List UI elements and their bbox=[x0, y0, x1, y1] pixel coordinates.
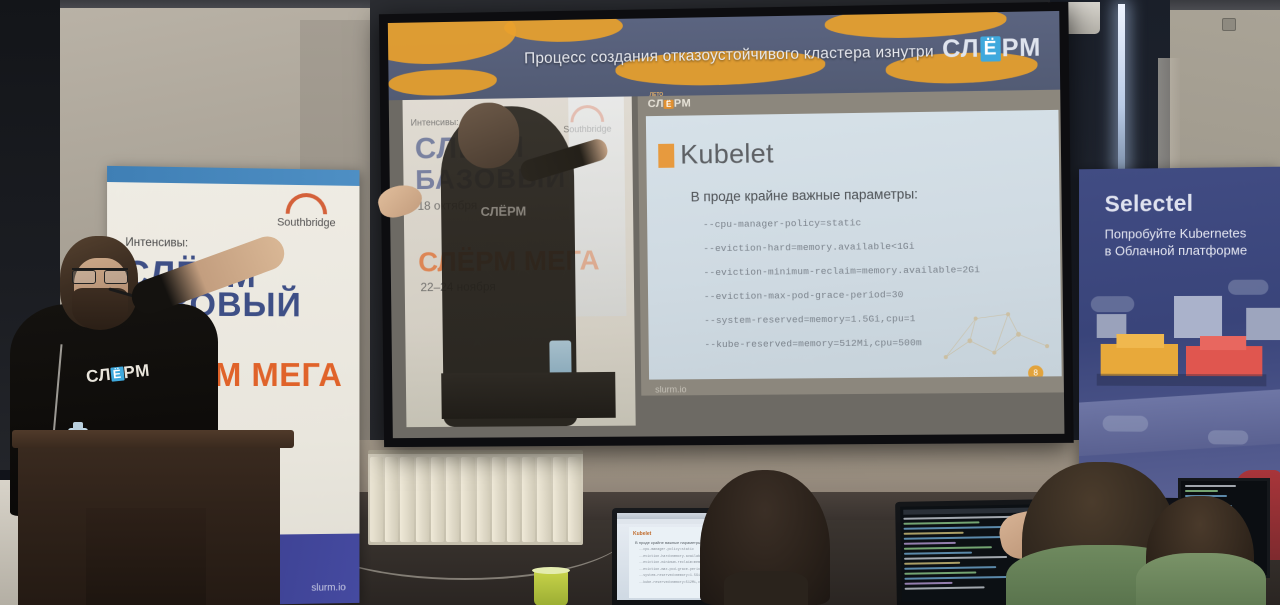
southbridge-arc-icon bbox=[286, 193, 327, 214]
hoodie-logo-before: СЛ bbox=[85, 365, 112, 388]
slide-code-line: --eviction-hard=memory.available<1Gi bbox=[703, 239, 1050, 254]
slide-code-line: --cpu-manager-policy=static bbox=[703, 215, 1050, 230]
slide-body: Kubelet В проде крайне важные параметры:… bbox=[646, 110, 1062, 380]
camera-feed-overlay: Southbridge Интенсивы: СЛЁРМ БАЗОВЫЙ 18 … bbox=[402, 96, 635, 427]
audience-person-right bbox=[1146, 496, 1254, 605]
pixel-block-gray bbox=[1246, 308, 1280, 340]
selectel-tagline-line2: в Облачной платформе bbox=[1105, 242, 1275, 260]
slide-brand-after: РМ bbox=[674, 97, 691, 109]
pixel-block-orange bbox=[1101, 344, 1178, 376]
podium-leg bbox=[86, 508, 206, 605]
slide-title-bullet-icon bbox=[658, 144, 674, 168]
pixel-block-red bbox=[1186, 346, 1262, 376]
projected-image: Процесс создания отказоустойчивого класт… bbox=[388, 11, 1065, 438]
pixel-block-orange bbox=[1116, 334, 1164, 348]
camera-feed-window bbox=[568, 97, 626, 317]
selectel-tagline-line1: Попробуйте Kubernetes bbox=[1105, 225, 1275, 243]
banner-left-topbar bbox=[107, 166, 359, 186]
banner-left-sponsor-label: Southbridge bbox=[277, 217, 336, 230]
projection-screen: Процесс создания отказоустойчивого класт… bbox=[379, 2, 1074, 447]
slerm-logo-before: СЛ bbox=[942, 35, 980, 65]
ceiling-vent bbox=[1222, 18, 1236, 31]
pixel-block-shadow bbox=[1097, 374, 1267, 387]
banner-selectel: Selectel Попробуйте Kubernetes в Облачно… bbox=[1079, 167, 1280, 500]
glasses-icon bbox=[72, 268, 128, 280]
slide-brand-logo-icon: ЛЕТО СЛЁРМ bbox=[648, 97, 692, 110]
network-decoration-icon bbox=[935, 296, 1058, 370]
selectel-tagline: Попробуйте Kubernetes в Облачной платфор… bbox=[1105, 225, 1275, 259]
pixel-block-gray bbox=[1174, 296, 1222, 338]
hoodie-logo-after: РМ bbox=[123, 361, 151, 384]
slerm-logo-boxed: Ё bbox=[980, 36, 1000, 62]
camera-feed-speaker-head bbox=[458, 102, 520, 168]
slide-brand-boxed: Ё bbox=[664, 99, 674, 108]
camera-feed-laptop bbox=[441, 372, 616, 419]
presentation-slide: ЛЕТО СЛЁРМ Kubelet В проде крайне важные… bbox=[638, 90, 1065, 396]
camera-poster-intensives: Интенсивы: bbox=[411, 117, 459, 128]
slide-title: Kubelet bbox=[680, 138, 774, 170]
slerm-logo-after: РМ bbox=[1001, 33, 1041, 63]
slerm-logo-icon: СЛЁРМ bbox=[942, 33, 1042, 64]
selectel-brand: Selectel bbox=[1105, 190, 1194, 218]
light-strip bbox=[1118, 4, 1125, 174]
audience-person-right-body bbox=[1136, 553, 1266, 605]
pixel-block-red bbox=[1200, 336, 1246, 350]
projector-banner: Процесс создания отказоустойчивого класт… bbox=[388, 11, 1060, 100]
speaker-beard bbox=[72, 288, 128, 330]
camera-feed-shirt-logo: СЛЁРМ bbox=[481, 204, 527, 219]
podium-top bbox=[12, 430, 294, 448]
audience-person-front-shoulders bbox=[724, 571, 808, 605]
paper-cup bbox=[534, 570, 568, 605]
podium bbox=[18, 438, 280, 605]
scene-root: Процесс создания отказоустойчивого класт… bbox=[0, 0, 1280, 605]
slide-footer-url: slurm.io bbox=[655, 384, 687, 394]
slide-code-line: --eviction-minimum-reclaim=memory.availa… bbox=[704, 263, 1051, 278]
slide-page-number: 8 bbox=[1028, 365, 1043, 379]
slide-brand-tag: ЛЕТО bbox=[650, 92, 664, 98]
banner-left-url: slurm.io bbox=[311, 582, 345, 593]
slide-subtitle: В проде крайне важные параметры: bbox=[691, 186, 918, 204]
banner-left-sponsor: Southbridge bbox=[267, 192, 346, 229]
slide-brand-before: СЛ bbox=[648, 98, 664, 110]
